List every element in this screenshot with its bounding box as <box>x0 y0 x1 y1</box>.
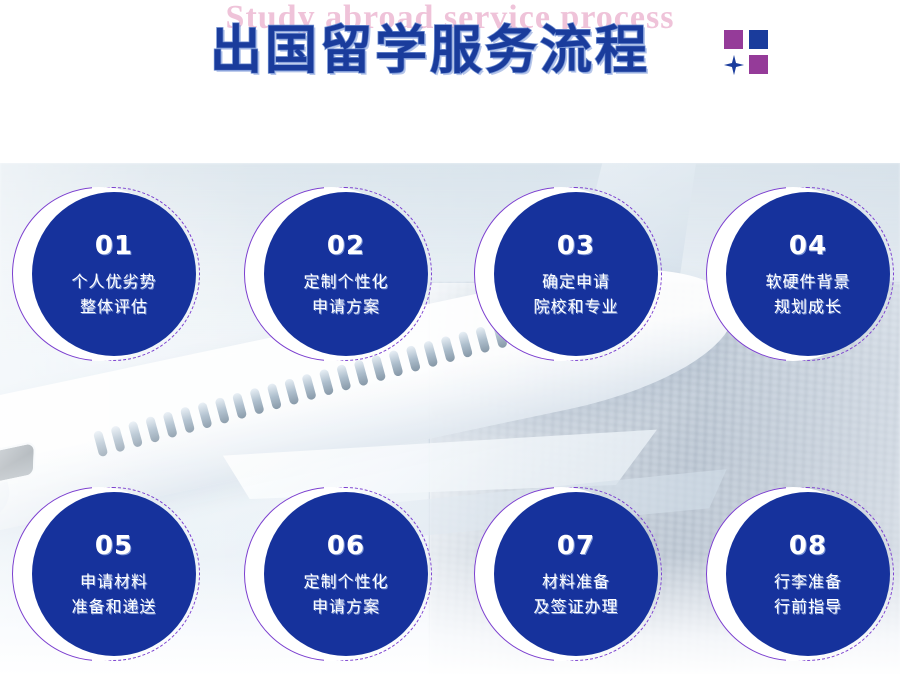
step-label-line2: 申请方案 <box>312 295 380 320</box>
step-disc: 03 确定申请 院校和专业 <box>494 192 658 356</box>
process-step-05[interactable]: 05 申请材料 准备和递送 <box>4 481 204 674</box>
purple-square-bottom-icon <box>749 55 768 74</box>
step-disc: 08 行李准备 行前指导 <box>726 492 890 656</box>
step-label-line2: 准备和递送 <box>71 595 156 620</box>
step-label-line1: 定制个性化 <box>303 270 388 295</box>
step-label-line2: 规划成长 <box>774 295 842 320</box>
step-disc: 01 个人优劣势 整体评估 <box>32 192 196 356</box>
step-label-line2: 申请方案 <box>312 595 380 620</box>
purple-square-icon <box>724 30 743 49</box>
process-row-top: 01 个人优劣势 整体评估 02 定制个性化 申请方案 03 确定申请 院校和专… <box>0 181 900 381</box>
step-number: 05 <box>95 531 133 561</box>
step-number: 01 <box>95 231 133 261</box>
step-label-line2: 行前指导 <box>774 595 842 620</box>
step-disc: 07 材料准备 及签证办理 <box>494 492 658 656</box>
process-step-03[interactable]: 03 确定申请 院校和专业 <box>466 181 666 381</box>
step-label-line1: 个人优劣势 <box>71 270 156 295</box>
poster-header: Study abroad service process 出国留学服务流程 <box>0 0 900 163</box>
step-label-line1: 材料准备 <box>542 570 610 595</box>
step-label-line2: 整体评估 <box>80 295 148 320</box>
step-number: 07 <box>557 531 595 561</box>
step-number: 04 <box>789 231 827 261</box>
step-label-line2: 及签证办理 <box>533 595 618 620</box>
process-step-08[interactable]: 08 行李准备 行前指导 <box>698 481 898 674</box>
four-point-star-icon <box>723 54 745 76</box>
title-decoration <box>724 30 772 78</box>
process-row-bottom: 05 申请材料 准备和递送 06 定制个性化 申请方案 07 材料准备 及签证办… <box>0 481 900 674</box>
step-label-line1: 定制个性化 <box>303 570 388 595</box>
step-label-line1: 确定申请 <box>542 270 610 295</box>
step-label-line1: 软硬件背景 <box>765 270 850 295</box>
step-number: 02 <box>327 231 365 261</box>
step-disc: 05 申请材料 准备和递送 <box>32 492 196 656</box>
step-label-line1: 申请材料 <box>80 570 148 595</box>
page-title: 出国留学服务流程 <box>150 22 710 80</box>
step-disc: 02 定制个性化 申请方案 <box>264 192 428 356</box>
process-step-06[interactable]: 06 定制个性化 申请方案 <box>236 481 436 674</box>
process-step-02[interactable]: 02 定制个性化 申请方案 <box>236 181 436 381</box>
step-number: 08 <box>789 531 827 561</box>
step-label-line2: 院校和专业 <box>533 295 618 320</box>
process-step-07[interactable]: 07 材料准备 及签证办理 <box>466 481 666 674</box>
process-step-01[interactable]: 01 个人优劣势 整体评估 <box>4 181 204 381</box>
blue-square-icon <box>749 30 768 49</box>
step-number: 06 <box>327 531 365 561</box>
study-abroad-process-poster: Study abroad service process 出国留学服务流程 <box>0 0 900 674</box>
step-disc: 04 软硬件背景 规划成长 <box>726 192 890 356</box>
step-number: 03 <box>557 231 595 261</box>
process-step-04[interactable]: 04 软硬件背景 规划成长 <box>698 181 898 381</box>
step-label-line1: 行李准备 <box>774 570 842 595</box>
step-disc: 06 定制个性化 申请方案 <box>264 492 428 656</box>
